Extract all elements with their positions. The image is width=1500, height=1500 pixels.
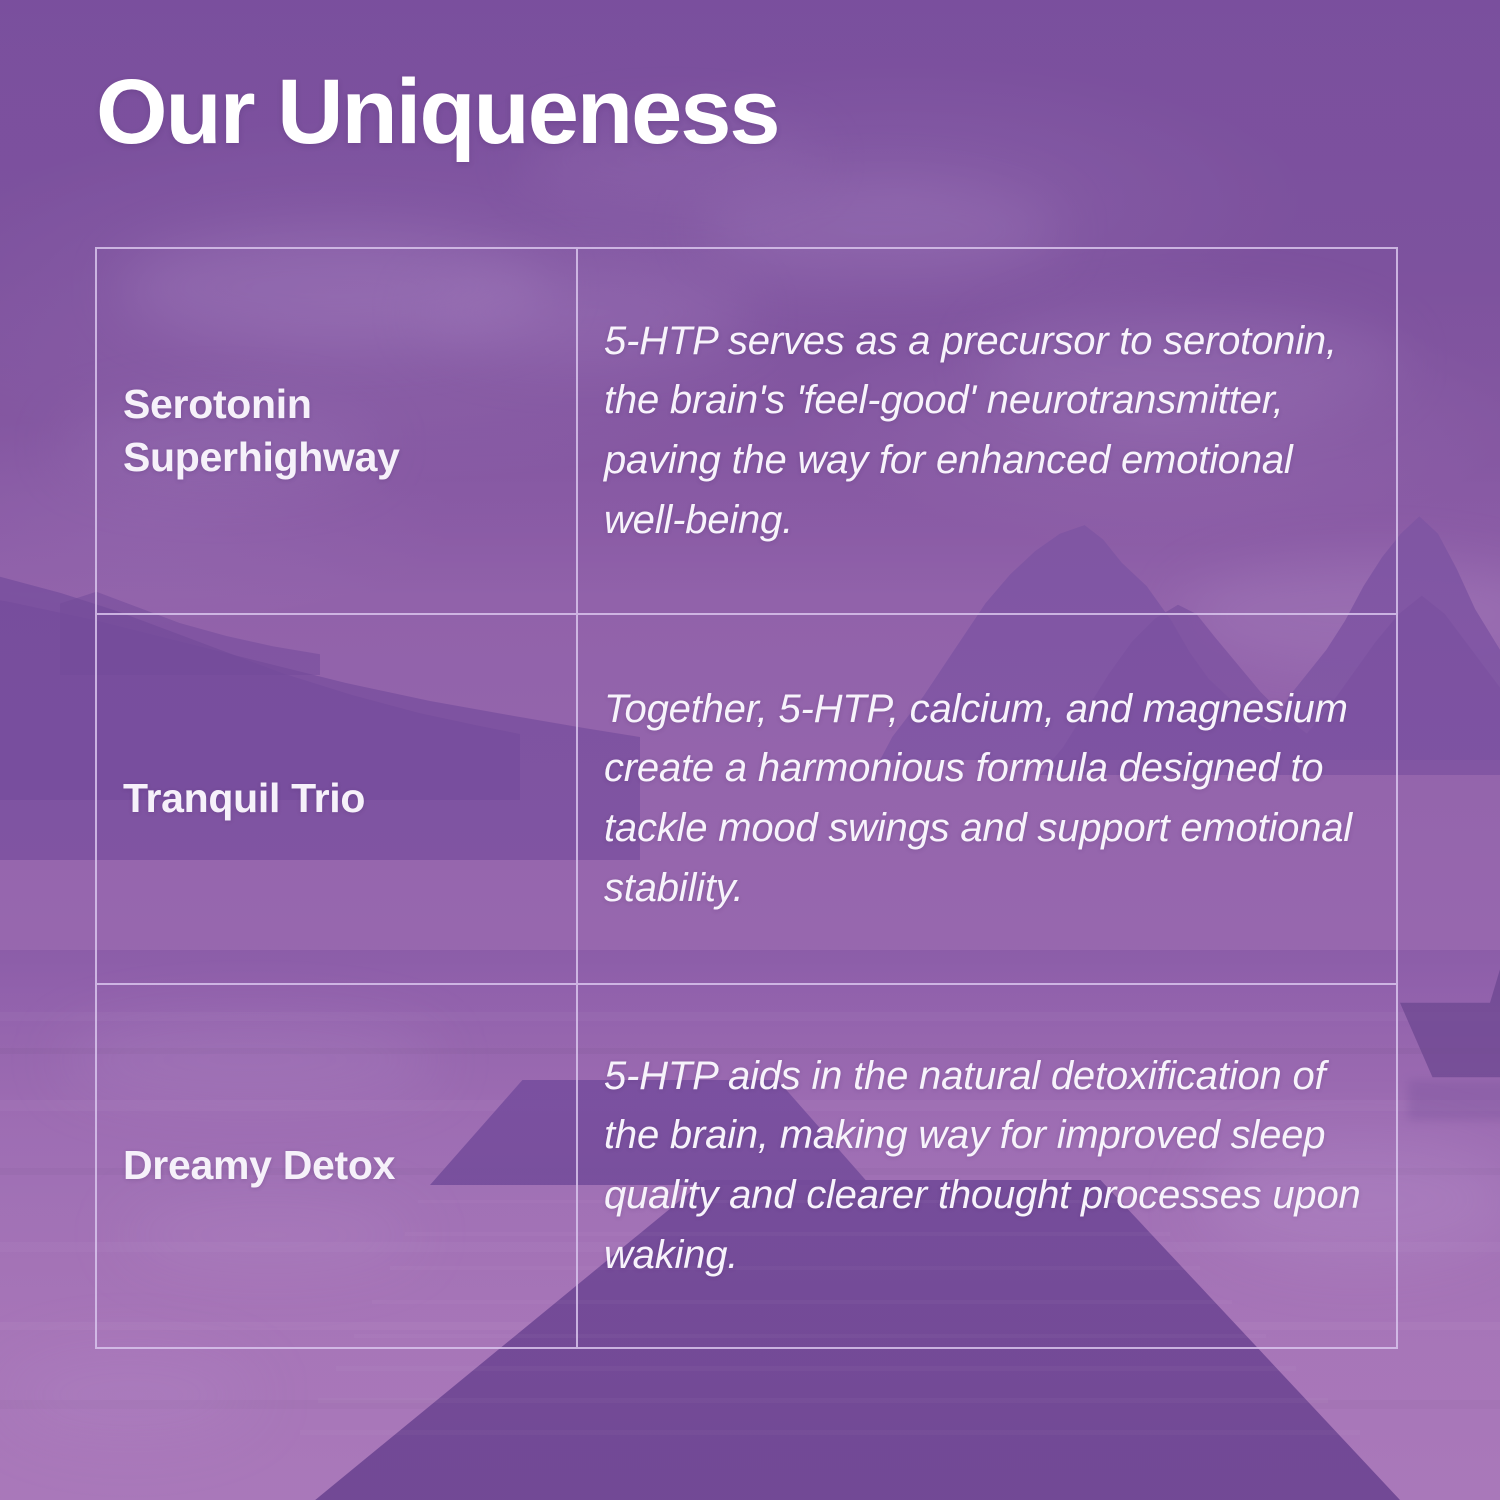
table-cell-description: Together, 5-HTP, calcium, and magnesium … — [578, 615, 1396, 983]
row-description-tranquil-trio: Together, 5-HTP, calcium, and magnesium … — [604, 680, 1362, 918]
row-description-serotonin-superhighway: 5-HTP serves as a precursor to serotonin… — [604, 312, 1362, 550]
table-cell-label: Serotonin Superhighway — [97, 249, 578, 613]
table-cell-label: Dreamy Detox — [97, 985, 578, 1347]
row-description-dreamy-detox: 5-HTP aids in the natural detoxification… — [604, 1047, 1362, 1285]
row-label-tranquil-trio: Tranquil Trio — [123, 772, 365, 825]
table-row: Serotonin Superhighway 5-HTP serves as a… — [97, 249, 1396, 615]
page-title: Our Uniqueness — [96, 64, 779, 161]
table-cell-label: Tranquil Trio — [97, 615, 578, 983]
table-row: Dreamy Detox 5-HTP aids in the natural d… — [97, 985, 1396, 1347]
table-cell-description: 5-HTP serves as a precursor to serotonin… — [578, 249, 1396, 613]
table-row: Tranquil Trio Together, 5-HTP, calcium, … — [97, 615, 1396, 985]
row-label-serotonin-superhighway: Serotonin Superhighway — [123, 378, 550, 485]
uniqueness-table: Serotonin Superhighway 5-HTP serves as a… — [95, 247, 1398, 1349]
row-label-dreamy-detox: Dreamy Detox — [123, 1139, 395, 1192]
infographic-card: Our Uniqueness Serotonin Superhighway 5-… — [0, 0, 1500, 1500]
table-cell-description: 5-HTP aids in the natural detoxification… — [578, 985, 1396, 1347]
